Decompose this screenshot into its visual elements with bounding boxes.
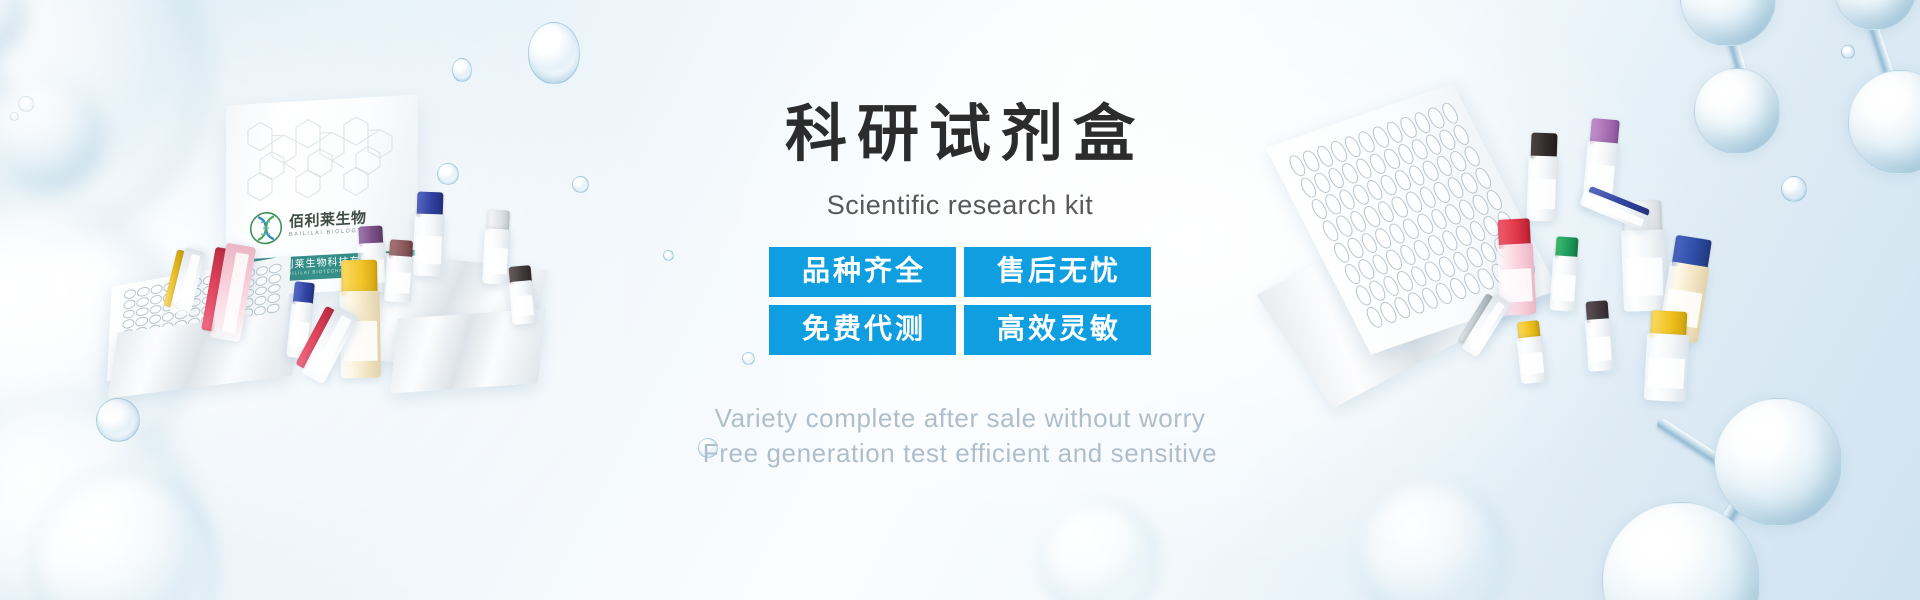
tagline-line-1: Variety complete after sale without worr… xyxy=(0,401,1920,436)
banner-subtitle-en: Scientific research kit xyxy=(0,192,1920,219)
molecule-node xyxy=(1602,502,1760,600)
banner-text-block: 科研试剂盒 Scientific research kit 品种齐全 售后无忧 … xyxy=(0,0,1920,471)
feature-badge-grid: 品种齐全 售后无忧 免费代测 高效灵敏 xyxy=(769,247,1151,355)
feature-badge-freetest[interactable]: 免费代测 xyxy=(769,305,956,355)
tagline-line-2: Free generation test efficient and sensi… xyxy=(0,436,1920,471)
feature-badge-aftersale[interactable]: 售后无忧 xyxy=(964,247,1151,297)
decorative-bubble xyxy=(30,470,220,600)
decorative-bubble xyxy=(1358,480,1508,600)
banner-tagline: Variety complete after sale without worr… xyxy=(0,401,1920,471)
promo-banner: 佰利莱生物 BAILILAI BIOLOGY 上海佰利莱生物科技有限公司 SHA… xyxy=(0,0,1920,600)
feature-badge-sensitive[interactable]: 高效灵敏 xyxy=(964,305,1151,355)
decorative-bubble xyxy=(1040,500,1160,600)
banner-title-cn: 科研试剂盒 xyxy=(0,104,1920,166)
feature-badge-variety[interactable]: 品种齐全 xyxy=(769,247,956,297)
